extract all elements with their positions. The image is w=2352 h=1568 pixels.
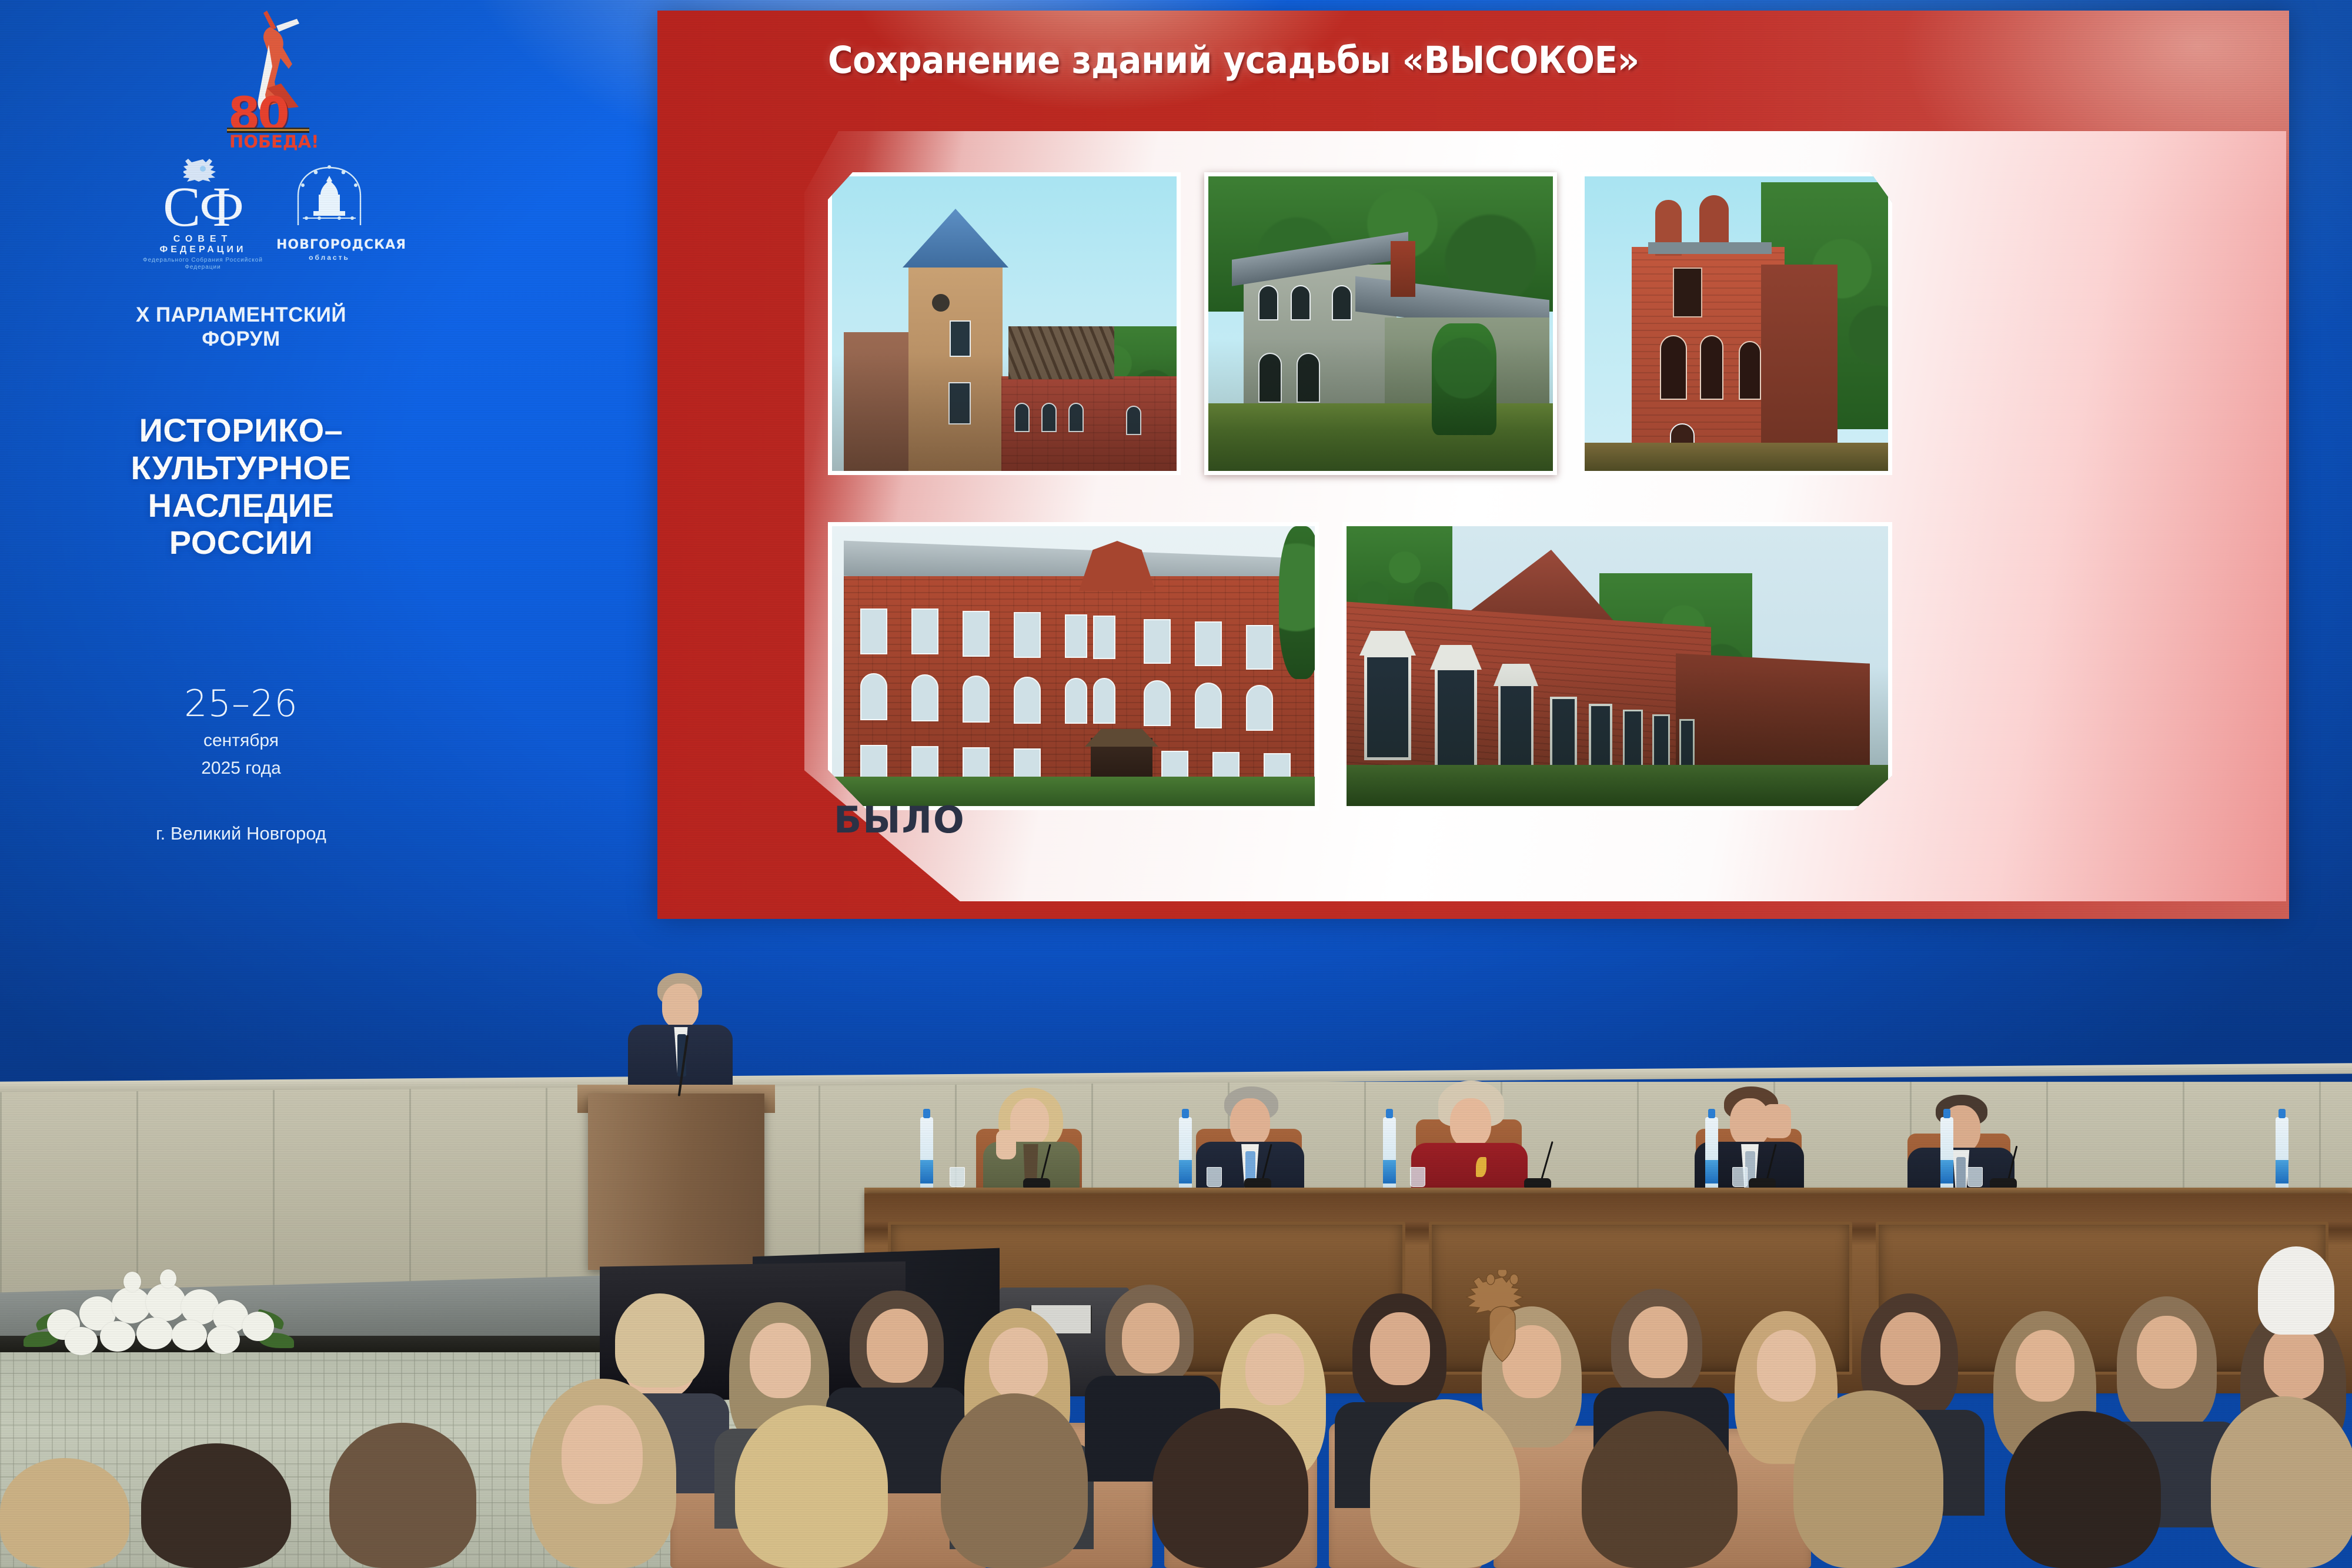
organisation-logos: СФ СОВЕТ ФЕДЕРАЦИИ Федерального Собрания…: [76, 156, 406, 288]
novgorod-millennium-monument-icon: [285, 162, 373, 232]
sf-line2: ФЕДЕРАЦИИ: [135, 245, 270, 255]
forum-subtitle-line2: ФОРУМ: [76, 327, 406, 351]
forum-city: г. Великий Новгород: [76, 823, 406, 844]
white-flower-arrangement: [24, 1267, 300, 1361]
photo-brick-church: [1581, 172, 1892, 475]
forum-subtitle: X ПАРЛАМЕНТСКИЙ ФОРУМ: [76, 303, 406, 352]
slide-caption-было: БЫЛО: [834, 798, 965, 841]
logo-council-of-federation: СФ СОВЕТ ФЕДЕРАЦИИ Федерального Собрания…: [135, 156, 270, 272]
novgorod-name: НОВГОРОДСКАЯ: [276, 238, 382, 252]
sf-line1: СОВЕТ: [135, 234, 270, 245]
photo-brick-school: [828, 522, 1319, 810]
photo-long-gallery: [1342, 522, 1892, 810]
forum-title-line3: НАСЛЕДИЕ: [76, 487, 406, 524]
sf-line3: Федерального Собрания Российской Федерац…: [135, 257, 270, 272]
water-bottle: [920, 1117, 933, 1191]
photo-overgrown-house: [1204, 172, 1557, 475]
conference-photograph: 80 ПОБЕДА! СФ СОВЕТ ФЕДЕРАЦИИ Федерально…: [0, 0, 2352, 1568]
lectern: [588, 1094, 764, 1270]
logo-novgorod-region: НОВГОРОДСКАЯ область: [276, 162, 382, 262]
drinking-glass: [950, 1167, 965, 1187]
slide-title: Сохранение зданий усадьбы «ВЫСОКОЕ»: [828, 39, 1639, 82]
forum-subtitle-line1: X ПАРЛАМЕНТСКИЙ: [76, 303, 406, 327]
photo-manor-tower: [828, 172, 1181, 475]
drinking-glass: [1732, 1167, 1748, 1187]
forum-main-title: ИСТОРИКО– КУЛЬТУРНОЕ НАСЛЕДИЕ РОССИИ: [76, 412, 406, 561]
forum-month: сентября: [76, 731, 406, 751]
forum-title-line1: ИСТОРИКО–: [76, 412, 406, 449]
water-bottle: [1705, 1117, 1718, 1191]
drinking-glass: [1207, 1167, 1222, 1187]
presentation-slide: Сохранение зданий усадьбы «ВЫСОКОЕ»: [657, 11, 2289, 919]
victory-word: ПОБЕДА!: [229, 132, 319, 152]
water-bottle: [1383, 1117, 1396, 1191]
forum-title-line2: КУЛЬТУРНОЕ: [76, 449, 406, 487]
novgorod-sub: область: [276, 253, 382, 262]
victory-80-logo: 80 ПОБЕДА!: [223, 6, 323, 147]
russian-coat-of-arms-icon: [1464, 1270, 1541, 1370]
water-bottle: [2276, 1117, 2288, 1191]
forum-dates: 25–26: [76, 682, 406, 725]
drinking-glass: [1967, 1167, 1983, 1187]
forum-year: 2025 года: [76, 758, 406, 778]
water-bottle: [1179, 1117, 1192, 1191]
forum-title-line4: РОССИИ: [76, 524, 406, 561]
forum-branding-panel: 80 ПОБЕДА! СФ СОВЕТ ФЕДЕРАЦИИ Федерально…: [76, 0, 406, 999]
water-bottle: [1940, 1117, 1953, 1191]
drinking-glass: [1410, 1167, 1425, 1187]
sf-monogram: СФ: [135, 183, 270, 232]
